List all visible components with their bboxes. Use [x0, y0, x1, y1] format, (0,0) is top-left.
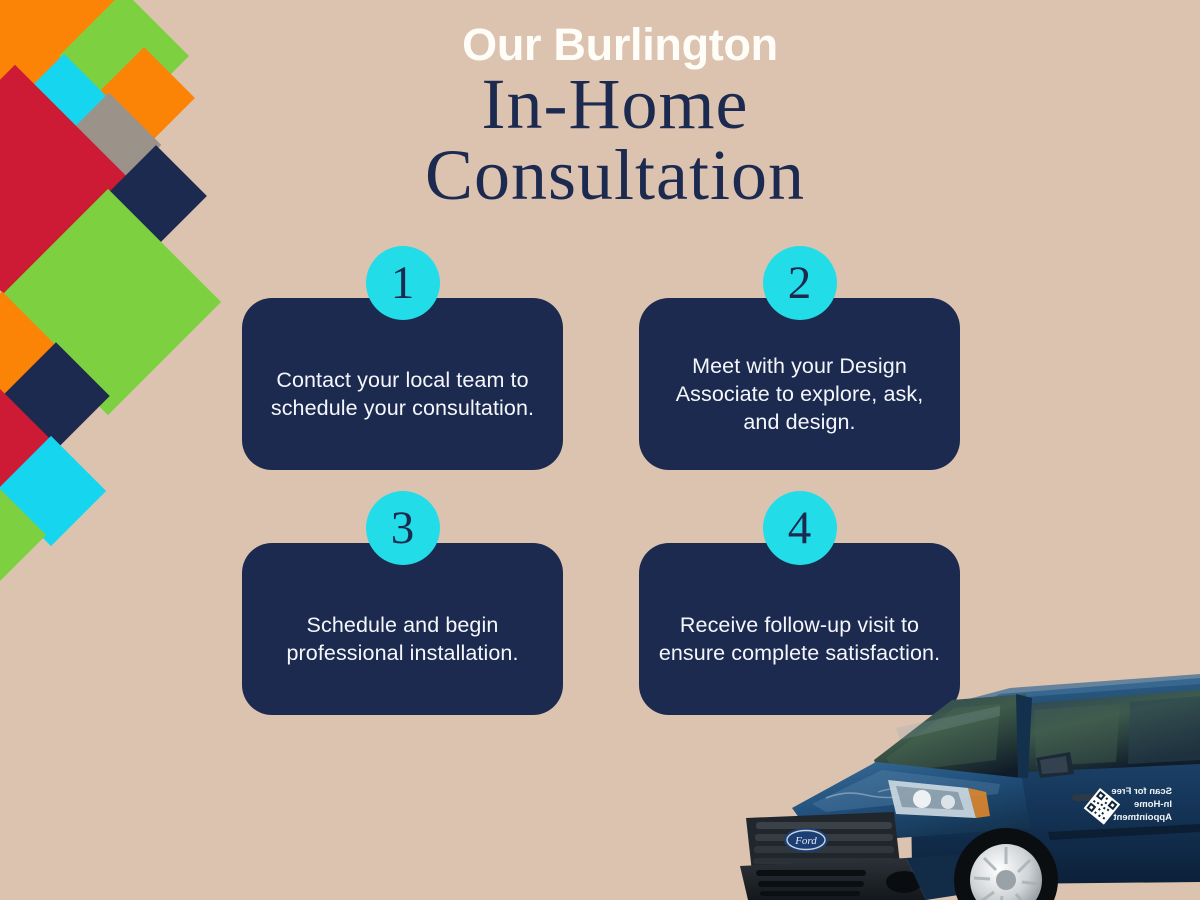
step-card-1[interactable]: 1 Contact your local team to schedule yo… — [242, 298, 563, 470]
page-header: Our Burlington In-Home Consultation — [0, 22, 1200, 212]
step-number-badge-4: 4 — [763, 491, 837, 565]
decorative-diamond — [0, 384, 50, 494]
step-card-2[interactable]: 2 Meet with your Design Associate to exp… — [639, 298, 960, 470]
step-number-2: 2 — [788, 260, 812, 307]
steps-row-1: 1 Contact your local team to schedule yo… — [242, 298, 960, 470]
step-number-badge-3: 3 — [366, 491, 440, 565]
van-decal-line-3: Appointment — [1113, 812, 1172, 823]
step-text-1: Contact your local team to schedule your… — [258, 367, 547, 423]
step-number-1: 1 — [391, 260, 415, 307]
ford-wordmark: Ford — [794, 835, 817, 847]
decorative-diamond — [0, 291, 59, 404]
step-number-badge-2: 2 — [763, 246, 837, 320]
step-text-2: Meet with your Design Associate to explo… — [655, 353, 944, 437]
van-illustration: Ford — [700, 632, 1200, 900]
header-kicker: Our Burlington — [0, 22, 1200, 67]
step-text-3: Schedule and begin professional installa… — [258, 612, 547, 668]
decorative-diamond — [0, 436, 106, 546]
step-number-badge-1: 1 — [366, 246, 440, 320]
page-title-line-2: Consultation — [30, 140, 1200, 211]
decorative-diamond — [0, 189, 221, 415]
step-card-3[interactable]: 3 Schedule and begin professional instal… — [242, 543, 563, 715]
decorative-diamond — [2, 342, 109, 449]
van-decal-line-2: In-Home — [1134, 799, 1172, 810]
van-decal-line-1: Scan for Free — [1111, 786, 1172, 797]
step-number-4: 4 — [788, 505, 812, 552]
decorative-diamond — [0, 480, 46, 590]
page-title: In-Home Consultation — [0, 69, 1200, 212]
page-title-line-1: In-Home — [30, 69, 1200, 140]
step-number-3: 3 — [391, 505, 415, 552]
service-van-photo: Ford — [700, 632, 1200, 900]
